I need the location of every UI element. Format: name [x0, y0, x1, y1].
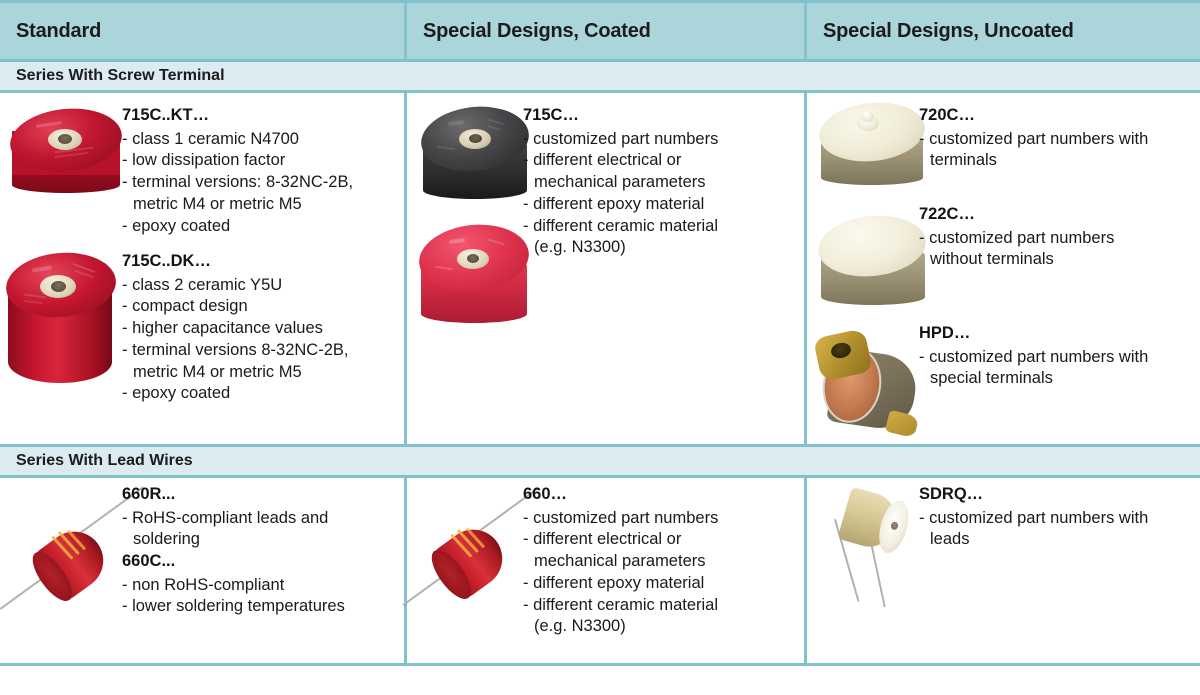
- cell-standard-lead: 660R... - RoHS-compliant leads andsolder…: [0, 478, 404, 663]
- list-item: - compact design: [122, 296, 394, 318]
- pink-disc-capacitor-image: [413, 219, 535, 329]
- black-disc-capacitor-image: [415, 101, 535, 213]
- entry-bullet-list: - customized part numbers withleads: [919, 508, 1197, 552]
- entry-title: 715C..DK…: [122, 251, 394, 272]
- list-item: - different epoxy material: [523, 194, 793, 216]
- list-item: - epoxy coated: [122, 216, 394, 238]
- cream-radial-lead-capacitor-image: [817, 482, 927, 622]
- entry-title: HPD…: [919, 323, 1197, 344]
- entry-660c: 660C... - non RoHS-compliant - lower sol…: [122, 551, 394, 618]
- entry-bullet-list: - customized part numbers - different el…: [523, 508, 793, 639]
- brass-terminal-capacitor-image: [809, 325, 933, 443]
- list-item: - different electrical ormechanical para…: [523, 150, 793, 194]
- entry-660r: 660R... - RoHS-compliant leads andsolder…: [122, 484, 394, 551]
- list-item: - customized part numberswithout termina…: [919, 228, 1197, 272]
- entry-bullet-list: - customized part numbers - different el…: [523, 129, 793, 260]
- entry-660-coated: 660… - customized part numbers - differe…: [523, 484, 793, 638]
- cell-uncoated-screw: 720C… - customized part numbers withterm…: [804, 93, 1200, 444]
- entry-722c: 722C… - customized part numberswithout t…: [919, 204, 1197, 271]
- entry-hpd: HPD… - customized part numbers withspeci…: [919, 323, 1197, 390]
- list-item: - low dissipation factor: [122, 150, 394, 172]
- list-item: - non RoHS-compliant: [122, 575, 394, 597]
- list-item: - terminal versions 8-32NC-2B,metric M4 …: [122, 340, 394, 384]
- entry-title: SDRQ…: [919, 484, 1197, 505]
- entry-title: 722C…: [919, 204, 1197, 225]
- list-item: - class 1 ceramic N4700: [122, 129, 394, 151]
- list-item: - different ceramic material(e.g. N3300): [523, 216, 793, 260]
- entry-bullet-list: - customized part numbers withterminals: [919, 129, 1197, 173]
- entry-sdrq: SDRQ… - customized part numbers withlead…: [919, 484, 1197, 551]
- entry-title: 720C…: [919, 105, 1197, 126]
- list-item: - epoxy coated: [122, 383, 394, 405]
- entry-bullet-list: - RoHS-compliant leads andsoldering: [122, 508, 394, 552]
- table-header-row: Standard Special Designs, Coated Special…: [0, 0, 1200, 62]
- list-item: - terminal versions: 8-32NC-2B,metric M4…: [122, 172, 394, 216]
- entry-title: 660…: [523, 484, 793, 505]
- cream-disc-capacitor-with-terminal-image: [813, 99, 931, 199]
- entry-title: 715C…: [523, 105, 793, 126]
- column-header-special-uncoated: Special Designs, Uncoated: [804, 3, 1200, 59]
- list-item: - RoHS-compliant leads andsoldering: [122, 508, 394, 552]
- section-lead-wires-row: 660R... - RoHS-compliant leads andsolder…: [0, 478, 1200, 666]
- cell-uncoated-lead: SDRQ… - customized part numbers withlead…: [804, 478, 1200, 663]
- red-axial-lead-capacitor-image: [417, 490, 529, 640]
- product-comparison-table: Standard Special Designs, Coated Special…: [0, 0, 1200, 695]
- list-item: - customized part numbers withleads: [919, 508, 1197, 552]
- list-item: - customized part numbers withspecial te…: [919, 347, 1197, 391]
- list-item: - customized part numbers: [523, 129, 793, 151]
- list-item: - customized part numbers: [523, 508, 793, 530]
- entry-title: 715C..KT…: [122, 105, 394, 126]
- section-screw-terminal-row: 715C..KT… - class 1 ceramic N4700 - low …: [0, 93, 1200, 447]
- list-item: - higher capacitance values: [122, 318, 394, 340]
- entry-720c: 720C… - customized part numbers withterm…: [919, 105, 1197, 172]
- column-header-standard: Standard: [0, 3, 404, 59]
- section-band-lead-wires: Series With Lead Wires: [0, 447, 1200, 478]
- entry-title: 660C...: [122, 551, 394, 572]
- cell-coated-lead: 660… - customized part numbers - differe…: [404, 478, 804, 663]
- red-axial-lead-capacitor-image: [18, 488, 130, 638]
- entry-bullet-list: - non RoHS-compliant - lower soldering t…: [122, 575, 394, 619]
- red-cylinder-capacitor-screw-terminal-image: [0, 245, 128, 395]
- entry-title: 660R...: [122, 484, 394, 505]
- entry-bullet-list: - class 1 ceramic N4700 - low dissipatio…: [122, 129, 394, 238]
- list-item: - different ceramic material(e.g. N3300): [523, 595, 793, 639]
- list-item: - customized part numbers withterminals: [919, 129, 1197, 173]
- cell-coated-screw: 715C… - customized part numbers - differ…: [404, 93, 804, 444]
- entry-bullet-list: - customized part numbers withspecial te…: [919, 347, 1197, 391]
- entry-715c-coated: 715C… - customized part numbers - differ…: [523, 105, 793, 259]
- entry-bullet-list: - class 2 ceramic Y5U - compact design -…: [122, 275, 394, 406]
- column-header-special-coated: Special Designs, Coated: [404, 3, 804, 59]
- red-disc-capacitor-screw-terminal-image: [2, 101, 127, 211]
- cream-disc-capacitor-no-terminal-image: [813, 211, 931, 317]
- list-item: - different epoxy material: [523, 573, 793, 595]
- entry-bullet-list: - customized part numberswithout termina…: [919, 228, 1197, 272]
- entry-715c-kt: 715C..KT… - class 1 ceramic N4700 - low …: [122, 105, 394, 237]
- list-item: - class 2 ceramic Y5U: [122, 275, 394, 297]
- entry-715c-dk: 715C..DK… - class 2 ceramic Y5U - compac…: [122, 251, 394, 405]
- list-item: - different electrical ormechanical para…: [523, 529, 793, 573]
- list-item: - lower soldering temperatures: [122, 596, 394, 618]
- section-band-screw-terminal: Series With Screw Terminal: [0, 62, 1200, 93]
- cell-standard-screw: 715C..KT… - class 1 ceramic N4700 - low …: [0, 93, 404, 444]
